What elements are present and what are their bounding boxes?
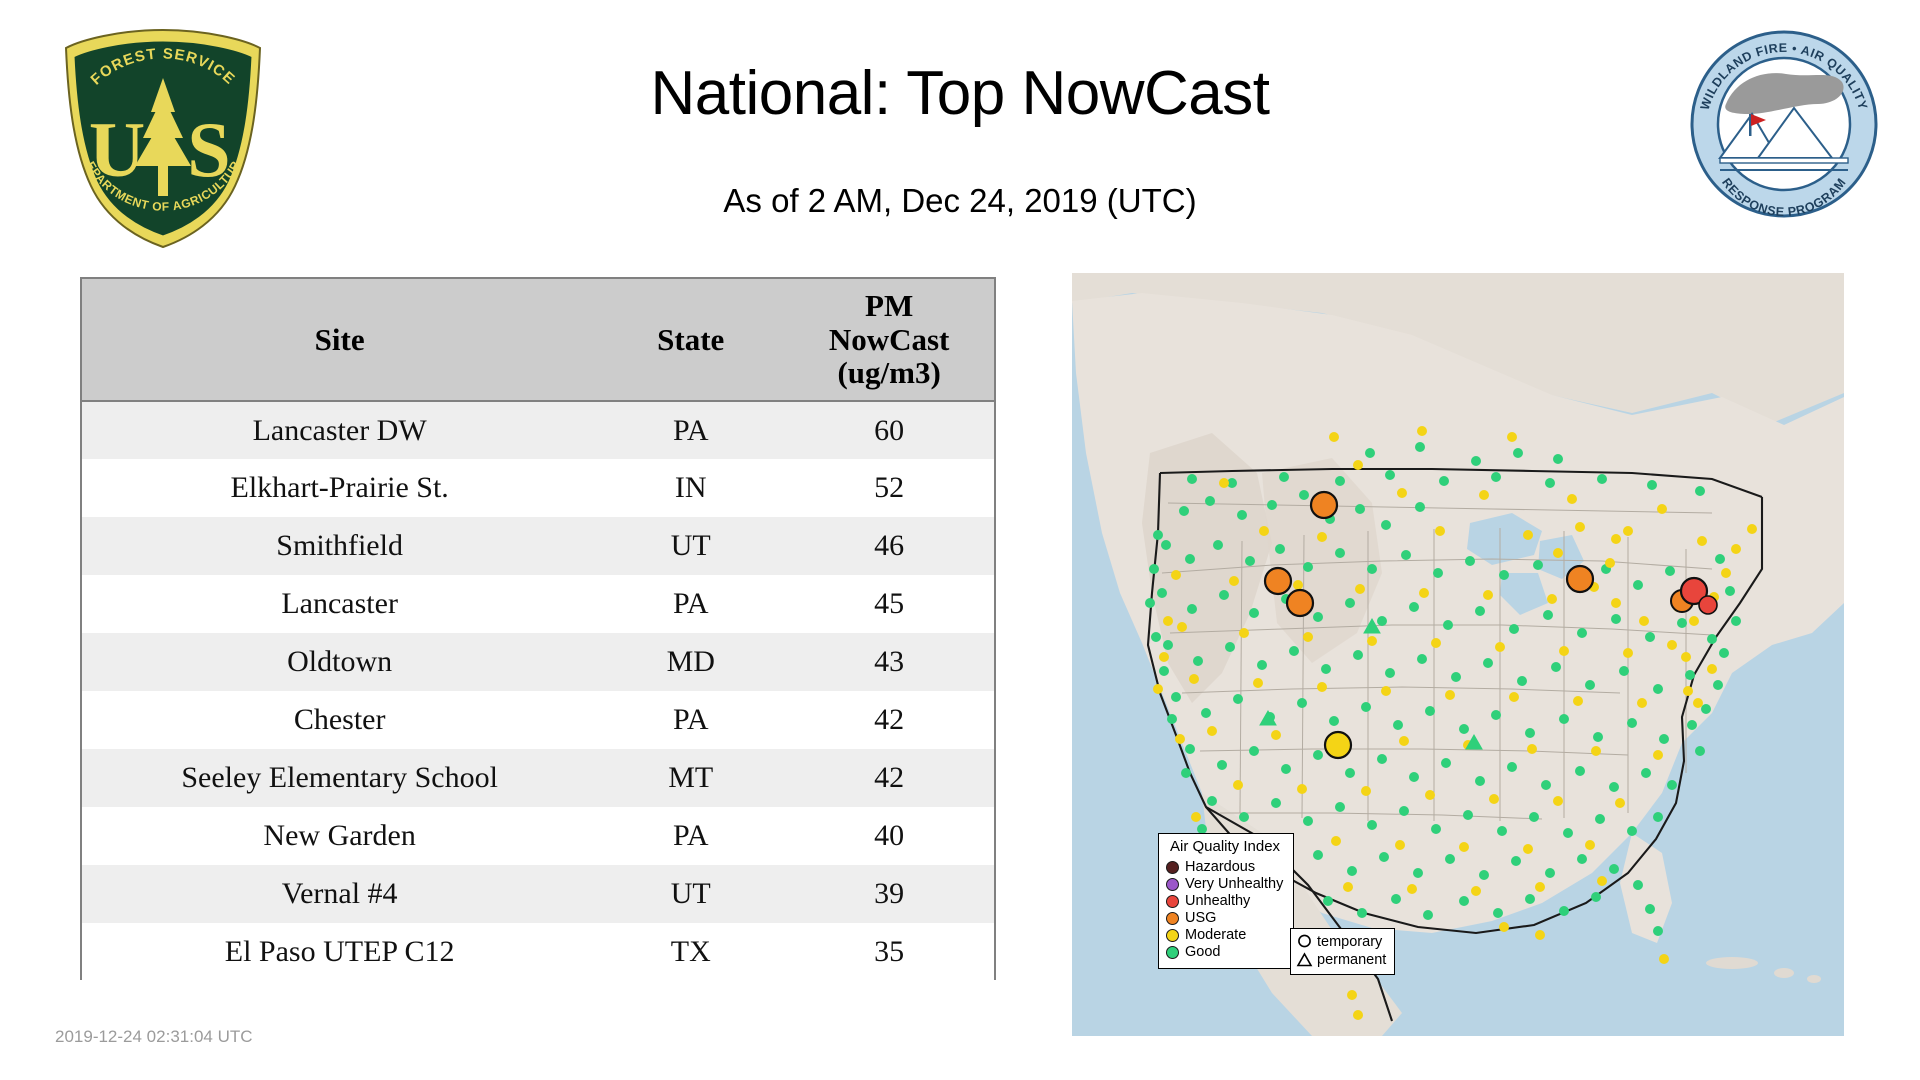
cell-pm-nowcast: 42 [784, 749, 994, 807]
cell-site: Vernal #4 [82, 865, 597, 923]
cell-site: Chester [82, 691, 597, 749]
cell-state: PA [597, 575, 784, 633]
cell-site: Seeley Elementary School [82, 749, 597, 807]
cell-state: UT [597, 517, 784, 575]
circle-outline-icon [1296, 934, 1313, 950]
cell-pm-nowcast: 52 [784, 459, 994, 517]
legend-row-moderate: Moderate [1166, 927, 1284, 944]
cell-pm-nowcast: 60 [784, 401, 994, 459]
slide-root: U S FOREST SERVICE DEPARTMENT OF AGRICUL… [0, 0, 1920, 1080]
cell-state: MT [597, 749, 784, 807]
legend-swatch-icon [1166, 861, 1179, 874]
cell-state: TX [597, 923, 784, 981]
legend-row-hazardous: Hazardous [1166, 859, 1284, 876]
legend-site-row-permanent: permanent [1296, 951, 1386, 969]
cell-site: Smithfield [82, 517, 597, 575]
legend-label: Good [1185, 945, 1220, 960]
column-header-state: State [597, 279, 784, 401]
generated-timestamp: 2019-12-24 02:31:04 UTC [55, 1027, 253, 1047]
legend-swatch-icon [1166, 878, 1179, 891]
column-header-site-label: Site [315, 322, 365, 357]
cell-state: PA [597, 807, 784, 865]
cell-state: UT [597, 865, 784, 923]
legend-site-label-permanent: permanent [1317, 953, 1386, 968]
table-row: Seeley Elementary SchoolMT42 [82, 749, 994, 807]
cell-pm-nowcast: 39 [784, 865, 994, 923]
legend-row-very-unhealthy: Very Unhealthy [1166, 876, 1284, 893]
legend-label: Unhealthy [1185, 894, 1250, 909]
legend-row-unhealthy: Unhealthy [1166, 893, 1284, 910]
column-header-state-label: State [657, 322, 724, 357]
table-body: Lancaster DWPA60Elkhart-Prairie St.IN52S… [82, 401, 994, 981]
cell-state: PA [597, 401, 784, 459]
cell-pm-nowcast: 43 [784, 633, 994, 691]
legend-swatch-icon [1166, 895, 1179, 908]
top-nowcast-table-container: Site State PM NowCast (ug/m3) Lancaster … [80, 277, 996, 980]
cell-site: New Garden [82, 807, 597, 865]
top-nowcast-table: Site State PM NowCast (ug/m3) Lancaster … [82, 279, 994, 981]
triangle-outline-icon [1296, 952, 1313, 968]
cell-pm-nowcast: 40 [784, 807, 994, 865]
cell-pm-nowcast: 45 [784, 575, 994, 633]
legend-label: Moderate [1185, 928, 1246, 943]
cell-state: IN [597, 459, 784, 517]
legend-label: Hazardous [1185, 860, 1255, 875]
table-row: Elkhart-Prairie St.IN52 [82, 459, 994, 517]
map-legend-site-type: temporary permanent [1290, 928, 1395, 975]
cell-state: PA [597, 691, 784, 749]
cell-site: Lancaster [82, 575, 597, 633]
table-row: El Paso UTEP C12TX35 [82, 923, 994, 981]
table-row: LancasterPA45 [82, 575, 994, 633]
legend-row-usg: USG [1166, 910, 1284, 927]
cell-pm-nowcast: 46 [784, 517, 994, 575]
legend-swatch-icon [1166, 912, 1179, 925]
legend-site-label-temporary: temporary [1317, 935, 1382, 950]
table-header-row: Site State PM NowCast (ug/m3) [82, 279, 994, 401]
cell-site: El Paso UTEP C12 [82, 923, 597, 981]
cell-site: Oldtown [82, 633, 597, 691]
cell-site: Elkhart-Prairie St. [82, 459, 597, 517]
column-header-pm-line2: NowCast [784, 323, 994, 356]
cell-site: Lancaster DW [82, 401, 597, 459]
map-dots-moderate-highlight [1325, 732, 1351, 758]
legend-title: Air Quality Index [1166, 839, 1284, 854]
legend-row-good: Good [1166, 944, 1284, 961]
legend-swatch-icon [1166, 929, 1179, 942]
legend-swatch-icon [1166, 946, 1179, 959]
column-header-pm-nowcast: PM NowCast (ug/m3) [784, 279, 994, 401]
national-aqi-map[interactable]: Air Quality Index HazardousVery Unhealth… [1072, 273, 1844, 1036]
table-row: ChesterPA42 [82, 691, 994, 749]
legend-site-row-temporary: temporary [1296, 933, 1386, 951]
table-row: OldtownMD43 [82, 633, 994, 691]
table-row: New GardenPA40 [82, 807, 994, 865]
table-row: Vernal #4UT39 [82, 865, 994, 923]
table-row: SmithfieldUT46 [82, 517, 994, 575]
column-header-site: Site [82, 279, 597, 401]
column-header-pm-line1: PM [784, 289, 994, 322]
column-header-pm-line3: (ug/m3) [784, 356, 994, 389]
cell-state: MD [597, 633, 784, 691]
cell-pm-nowcast: 42 [784, 691, 994, 749]
cell-pm-nowcast: 35 [784, 923, 994, 981]
table-row: Lancaster DWPA60 [82, 401, 994, 459]
page-subtitle: As of 2 AM, Dec 24, 2019 (UTC) [0, 182, 1920, 220]
legend-label: Very Unhealthy [1185, 877, 1283, 892]
map-legend-air-quality-index: Air Quality Index HazardousVery Unhealth… [1158, 833, 1294, 969]
legend-label: USG [1185, 911, 1216, 926]
page-title: National: Top NowCast [0, 58, 1920, 129]
